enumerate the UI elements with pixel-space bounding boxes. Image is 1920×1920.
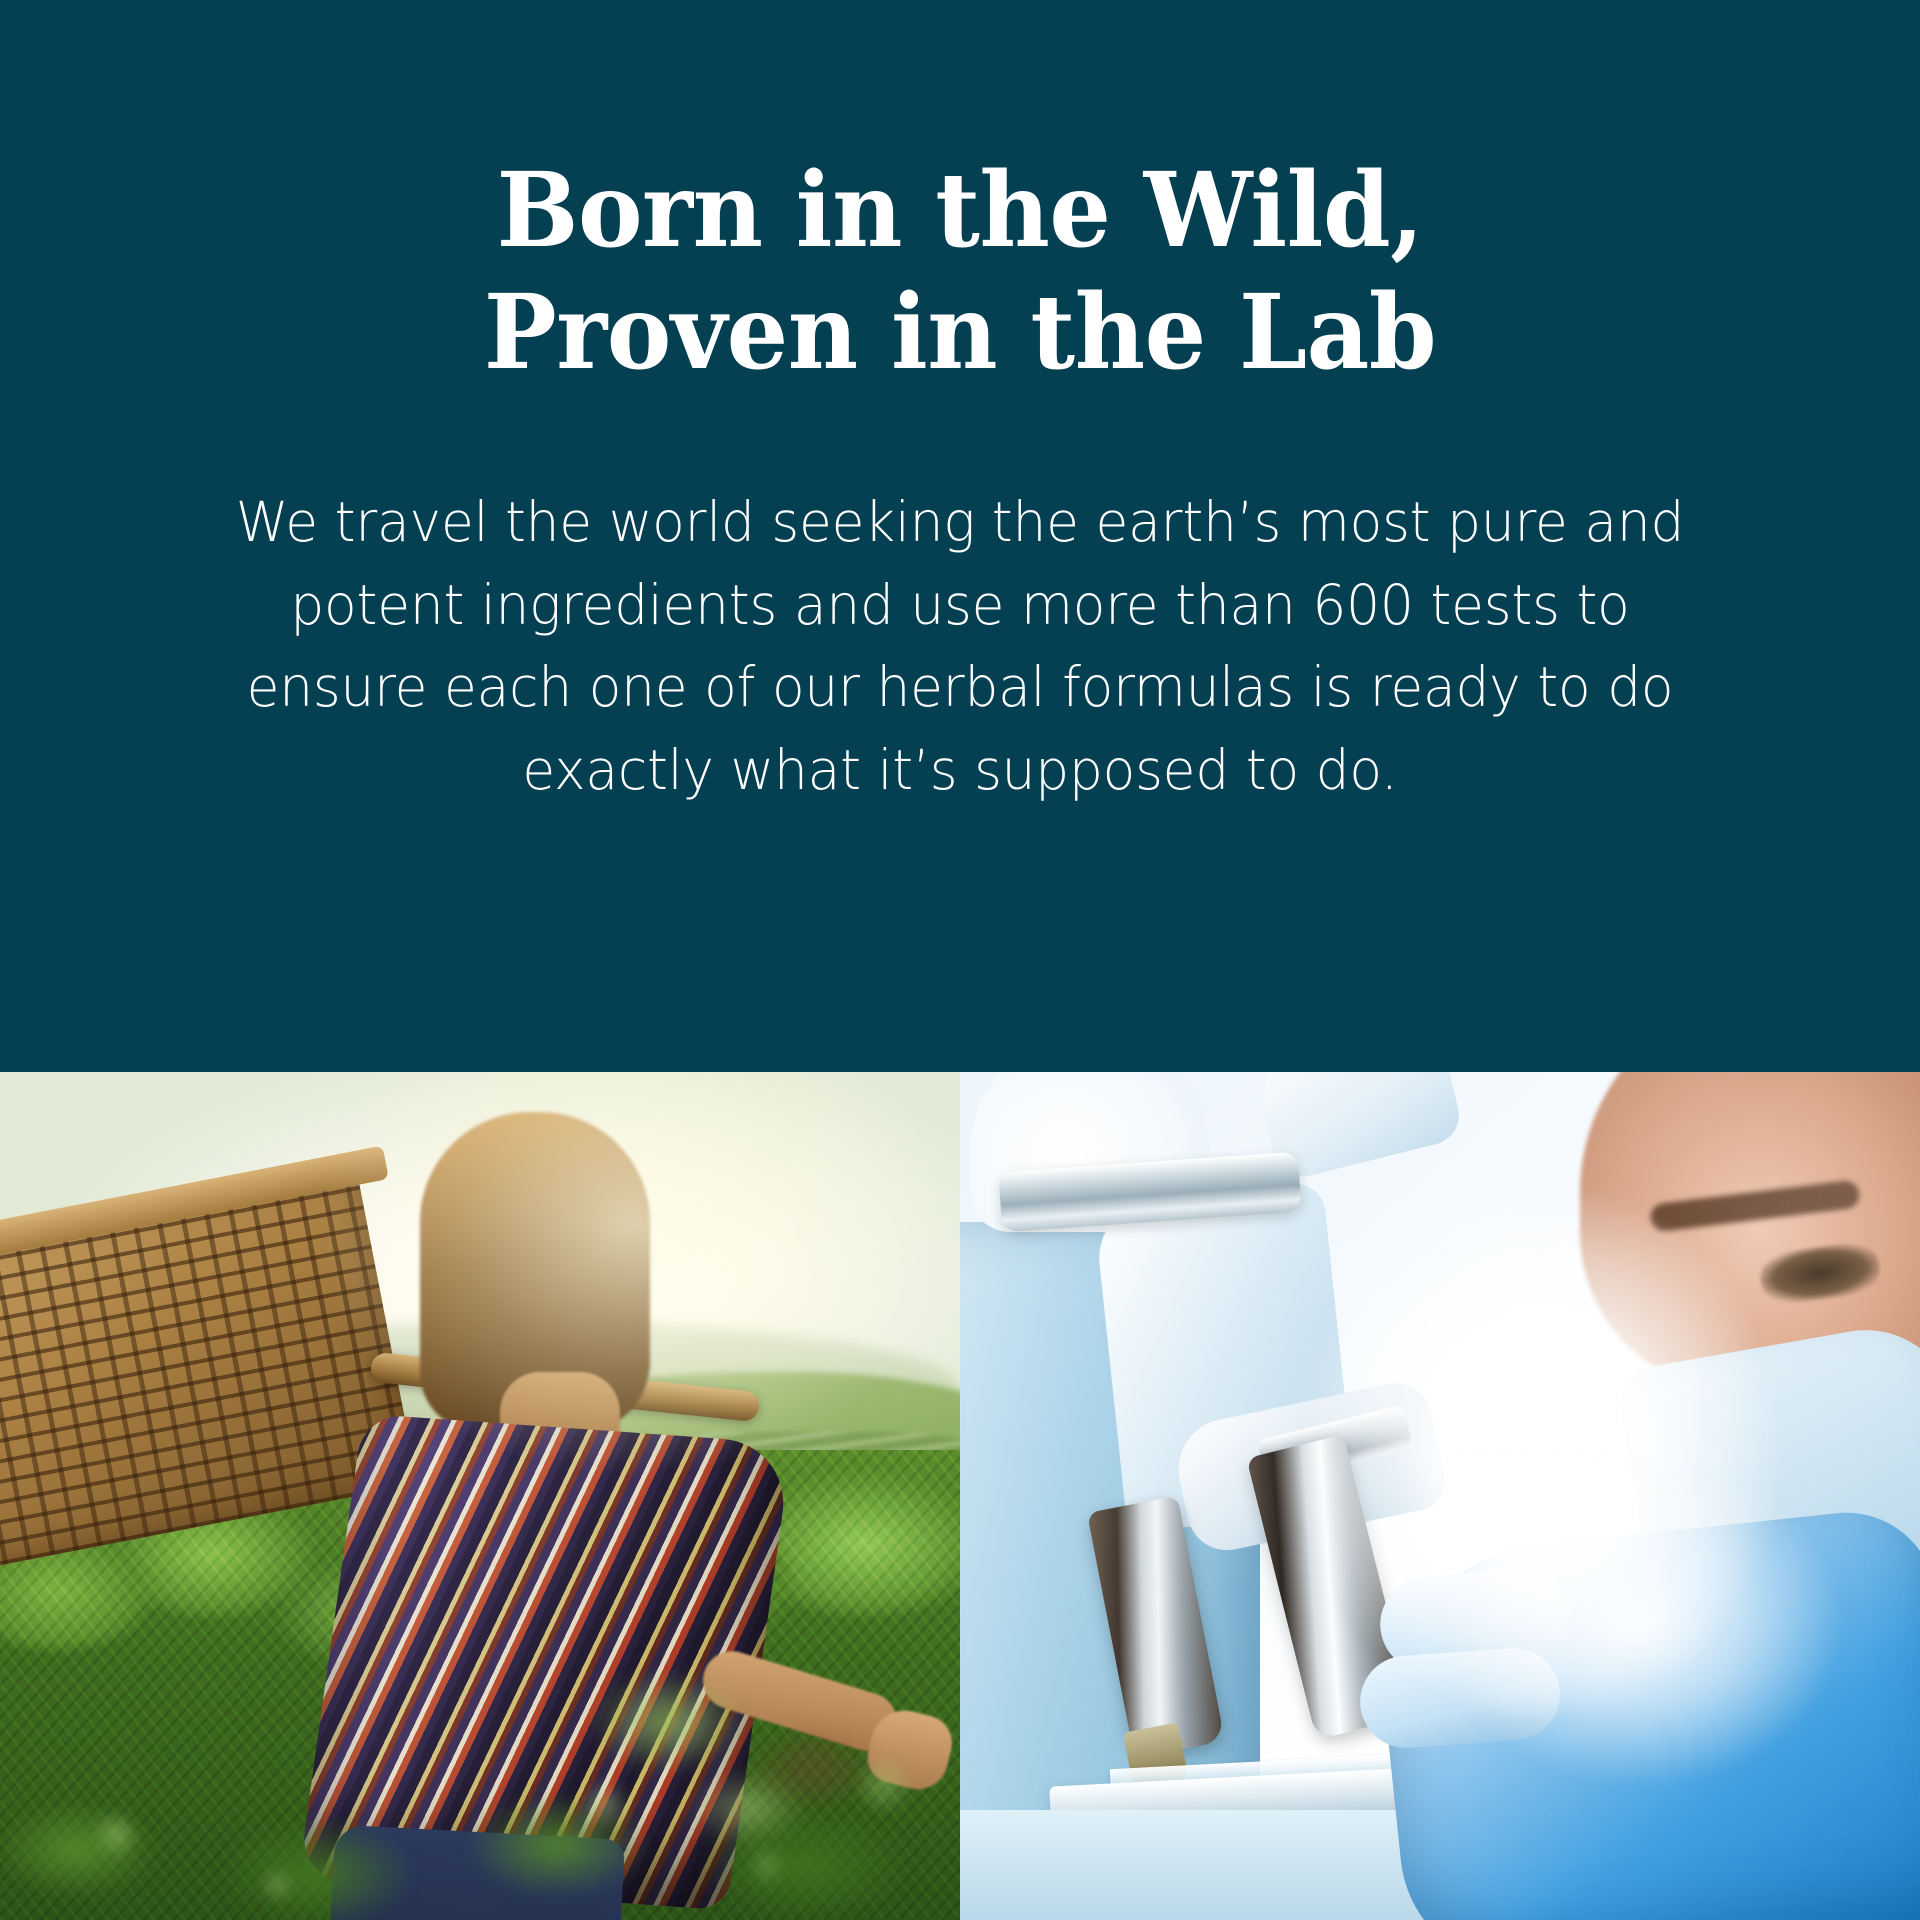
foreground-leaves	[0, 1750, 960, 1920]
body-line-3: ensure each one of our herbal formulas i…	[106, 646, 1813, 729]
body-line-4: exactly what it’s supposed to do.	[106, 729, 1813, 812]
body-line-2: potent ingredients and use more than 600…	[106, 564, 1813, 647]
microscope-base	[960, 1810, 1440, 1920]
headline-line-1: Born in the Wild,	[255, 150, 1665, 272]
body-paragraph: We travel the world seeking the earth’s …	[106, 481, 1813, 811]
tea-harvest-photo	[0, 1072, 960, 1920]
hero-section: Born in the Wild, Proven in the Lab We t…	[0, 0, 1920, 1072]
lab-light-flare	[1260, 1132, 1820, 1772]
page-title: Born in the Wild, Proven in the Lab	[255, 150, 1665, 393]
body-line-1: We travel the world seeking the earth’s …	[106, 481, 1813, 564]
headline-line-2: Proven in the Lab	[255, 272, 1665, 394]
lab-microscope-photo	[960, 1072, 1920, 1920]
marketing-panel: Born in the Wild, Proven in the Lab We t…	[0, 0, 1920, 1920]
photo-strip	[0, 1072, 1920, 1920]
